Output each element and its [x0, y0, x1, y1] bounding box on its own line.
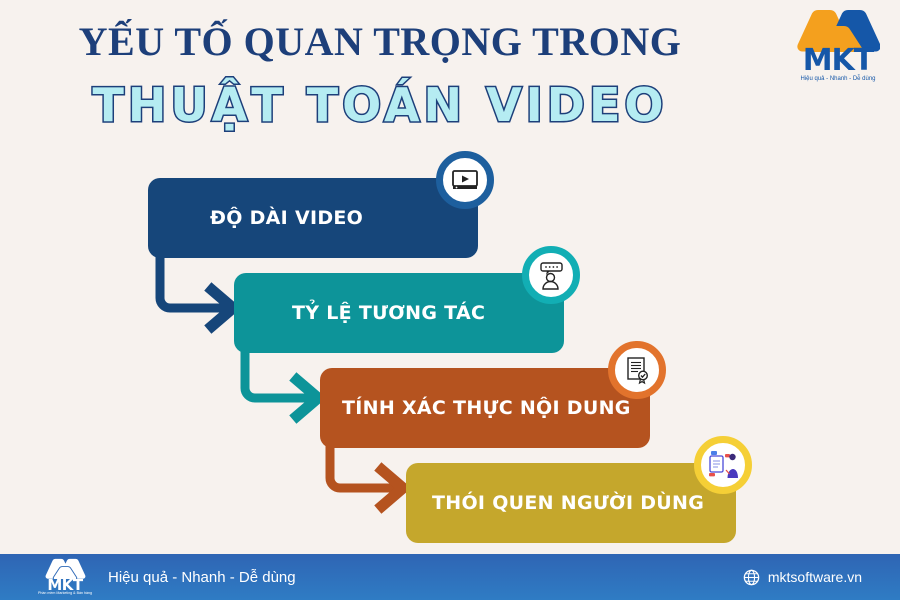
- footer-bar: MKT Phần mềm Marketing & Bán hàng Hiệu q…: [0, 554, 900, 600]
- brand-logo-wordmark: MKT: [782, 46, 894, 76]
- video-player-icon: [450, 165, 480, 195]
- step-icon-badge-4: [694, 436, 752, 494]
- globe-icon: [743, 569, 760, 586]
- step-label-4: THÓI QUEN NGƯỜI DÙNG: [432, 492, 704, 514]
- step-label-1: ĐỘ DÀI VIDEO: [210, 207, 363, 229]
- step-icon-badge-3: [608, 341, 666, 399]
- step-box-3[interactable]: TÍNH XÁC THỰC NỘI DUNG: [320, 368, 650, 448]
- infographic-canvas: YẾU TỐ QUAN TRỌNG TRONG THUẬT TOÁN VIDEO…: [0, 0, 900, 600]
- footer-logo-tagline: Phần mềm Marketing & Bán hàng: [38, 591, 92, 595]
- step-box-1[interactable]: ĐỘ DÀI VIDEO: [148, 178, 478, 258]
- step-icon-badge-1: [436, 151, 494, 209]
- step-label-2: TỶ LỆ TƯƠNG TÁC: [292, 302, 485, 324]
- brand-logo: MKT Hiệu quả - Nhanh - Dễ dùng: [782, 6, 894, 86]
- page-title-line2: THUẬT TOÁN VIDEO: [0, 78, 760, 132]
- user-habits-icon: [705, 448, 741, 482]
- step-label-3: TÍNH XÁC THỰC NỘI DUNG: [342, 397, 631, 419]
- footer-slogan: Hiệu quả - Nhanh - Dễ dùng: [108, 569, 296, 586]
- footer-website-label: mktsoftware.vn: [768, 569, 862, 585]
- step-icon-badge-2: [522, 246, 580, 304]
- footer-website[interactable]: mktsoftware.vn: [743, 569, 862, 586]
- brand-logo-tagline: Hiệu quả - Nhanh - Dễ dùng: [782, 76, 894, 82]
- footer-logo: MKT Phần mềm Marketing & Bán hàng: [38, 557, 92, 597]
- page-title-line1: YẾU TỐ QUAN TRỌNG TRONG: [0, 18, 760, 65]
- user-review-icon: [535, 259, 567, 291]
- step-box-2[interactable]: TỶ LỆ TƯƠNG TÁC: [234, 273, 564, 353]
- certificate-seal-icon: [622, 355, 652, 385]
- step-box-4[interactable]: THÓI QUEN NGƯỜI DÙNG: [406, 463, 736, 543]
